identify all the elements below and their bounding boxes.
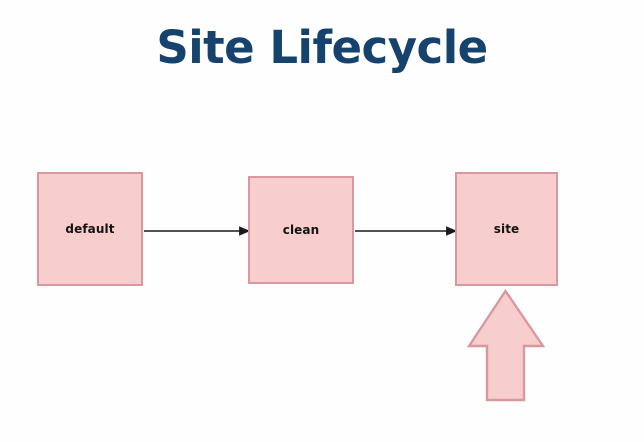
up-arrow-icon — [466, 288, 546, 404]
slide-canvas: Site Lifecycle default clean site — [0, 0, 644, 442]
emphasis-up-arrow[interactable] — [466, 288, 546, 404]
phase-box-site[interactable]: site — [455, 172, 558, 286]
phase-label-site: site — [494, 222, 520, 236]
phase-label-clean: clean — [283, 223, 320, 237]
phase-box-clean[interactable]: clean — [248, 176, 354, 284]
page-title: Site Lifecycle — [0, 24, 644, 71]
phase-label-default: default — [65, 222, 114, 236]
phase-box-default[interactable]: default — [37, 172, 143, 286]
